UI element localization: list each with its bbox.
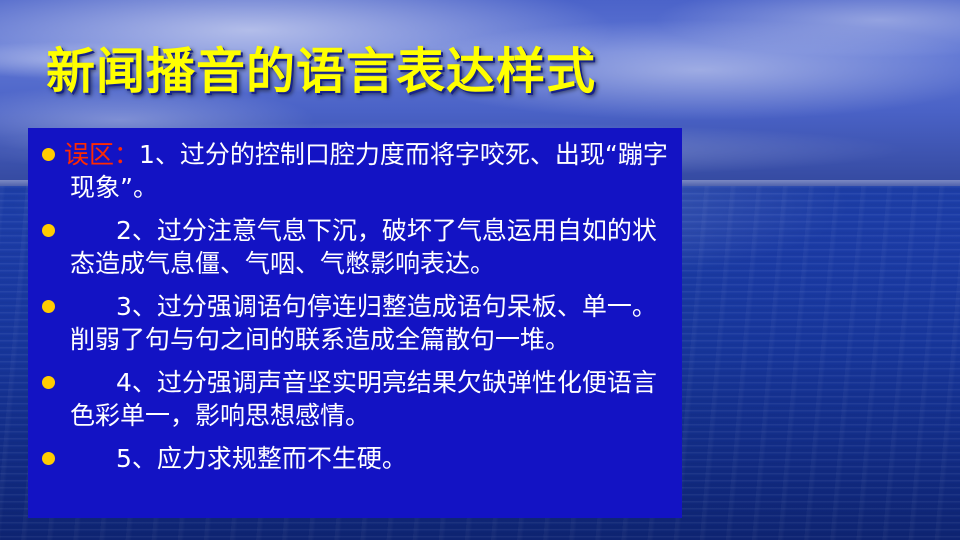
presentation-slide: 新闻播音的语言表达样式 误区：1、过分的控制口腔力度而将字咬死、出现“蹦字现象”…: [0, 0, 960, 540]
list-item: 5、应力求规整而不生硬。: [28, 442, 674, 475]
list-item-body: 3、过分强调语句停连归整造成语句呆板、单一。削弱了句与句之间的联系造成全篇散句一…: [70, 292, 657, 354]
list-item-lead: 误区：: [64, 140, 139, 169]
bullet-dot-icon: [42, 300, 55, 313]
list-item-text: 3、过分强调语句停连归整造成语句呆板、单一。削弱了句与句之间的联系造成全篇散句一…: [70, 290, 674, 356]
list-item: 误区：1、过分的控制口腔力度而将字咬死、出现“蹦字现象”。: [28, 138, 674, 204]
list-item-text: 误区：1、过分的控制口腔力度而将字咬死、出现“蹦字现象”。: [70, 138, 674, 204]
list-item-body: 1、过分的控制口腔力度而将字咬死、出现“蹦字现象”。: [70, 140, 668, 202]
bullet-list: 误区：1、过分的控制口腔力度而将字咬死、出现“蹦字现象”。 2、过分注意气息下沉…: [28, 128, 682, 485]
list-item-text: 4、过分强调声音坚实明亮结果欠缺弹性化便语言色彩单一，影响思想感情。: [70, 366, 674, 432]
list-item: 2、过分注意气息下沉，破坏了气息运用自如的状态造成气息僵、气咽、气憋影响表达。: [28, 214, 674, 280]
list-item: 3、过分强调语句停连归整造成语句呆板、单一。削弱了句与句之间的联系造成全篇散句一…: [28, 290, 674, 356]
list-item-body: 2、过分注意气息下沉，破坏了气息运用自如的状态造成气息僵、气咽、气憋影响表达。: [70, 216, 657, 278]
list-item-text: 5、应力求规整而不生硬。: [70, 442, 674, 475]
list-item-text: 2、过分注意气息下沉，破坏了气息运用自如的状态造成气息僵、气咽、气憋影响表达。: [70, 214, 674, 280]
bullet-dot-icon: [42, 148, 55, 161]
content-panel: 误区：1、过分的控制口腔力度而将字咬死、出现“蹦字现象”。 2、过分注意气息下沉…: [28, 128, 682, 518]
bullet-dot-icon: [42, 224, 55, 237]
list-item-body: 5、应力求规整而不生硬。: [116, 444, 407, 473]
list-item: 4、过分强调声音坚实明亮结果欠缺弹性化便语言色彩单一，影响思想感情。: [28, 366, 674, 432]
bullet-dot-icon: [42, 452, 55, 465]
bullet-dot-icon: [42, 376, 55, 389]
slide-title: 新闻播音的语言表达样式: [46, 42, 596, 100]
list-item-body: 4、过分强调声音坚实明亮结果欠缺弹性化便语言色彩单一，影响思想感情。: [70, 368, 657, 430]
